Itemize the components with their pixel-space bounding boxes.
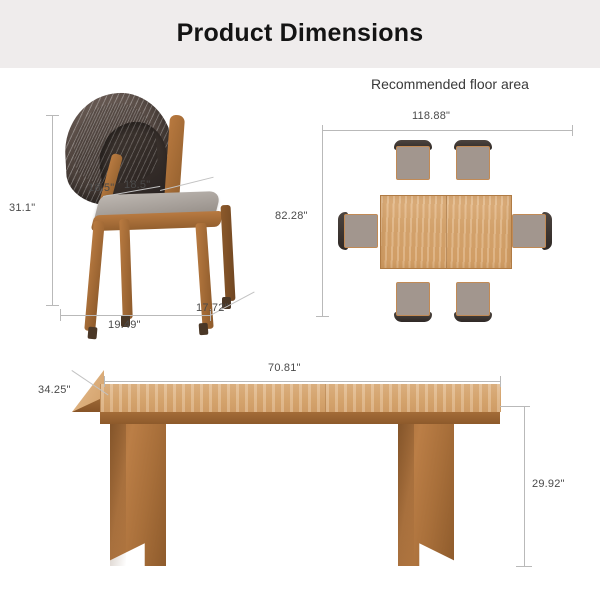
floorplan-chair-bottom-right: [456, 282, 490, 316]
page-title: Product Dimensions: [0, 19, 600, 48]
table-depth-label: 34.25": [38, 384, 71, 396]
chair-depth-label: 17.72": [196, 302, 229, 314]
chair-height-line: [52, 115, 53, 305]
chair-width-label: 19.49": [108, 319, 141, 331]
chair-width-line: [60, 315, 210, 316]
chair-leg-back-right: [220, 205, 235, 301]
chair-seat-right: [512, 214, 546, 248]
table-width-line: [104, 381, 500, 382]
chair-seat-top: [456, 146, 490, 180]
chair-seat-bottom: [396, 282, 430, 316]
table-width-tick-left: [104, 376, 105, 387]
table-diagram: 70.81" 34.25" 29.92": [0, 348, 600, 600]
table-top-surface: [100, 384, 501, 412]
chair-diagram: 31.1" 19.49" 17.72" 18.5" 18.5": [0, 68, 300, 348]
table-height-line: [524, 406, 525, 566]
table-top-edge: [100, 412, 500, 424]
floor-width-line: [322, 130, 572, 131]
floor-depth-label: 82.28": [275, 210, 308, 222]
floor-width-label: 118.88": [412, 110, 450, 122]
floorplan-chair-right: [512, 214, 546, 248]
floor-area-title: Recommended floor area: [300, 76, 600, 92]
table-height-label: 29.92": [532, 478, 565, 490]
floorplan-chair-left: [344, 214, 378, 248]
chair-seat-width-label: 18.5": [88, 182, 114, 194]
floorplan-chair-top-left: [396, 146, 430, 180]
header-band: Product Dimensions: [0, 0, 600, 68]
table-leg-left-shadow: [110, 424, 126, 566]
chair-foot-front-right: [199, 323, 209, 336]
product-dimensions-page: Product Dimensions 31.1": [0, 0, 600, 600]
floor-depth-line: [322, 130, 323, 316]
table-width-tick-right: [500, 376, 501, 387]
floor-area-diagram: Recommended floor area 118.88" 82.28": [300, 68, 600, 348]
chair-seat-bottom: [456, 282, 490, 316]
chair-illustration: [55, 93, 245, 323]
chair-seat-top: [396, 146, 430, 180]
floorplan-table: [380, 195, 512, 269]
chair-width-tick-left: [60, 309, 61, 321]
floor-width-tick-right: [572, 125, 573, 136]
table-height-tick-top: [500, 406, 530, 407]
table-leg-right-shadow: [398, 424, 414, 566]
chair-seat-left: [344, 214, 378, 248]
table-height-tick-bottom: [516, 566, 532, 567]
floor-depth-tick-bottom: [316, 316, 329, 317]
chair-seat-depth-label: 18.5": [124, 179, 150, 191]
chair-height-tick-top: [46, 115, 59, 116]
floorplan-chair-top-right: [456, 146, 490, 180]
chair-foot-front-left: [87, 327, 97, 340]
chair-height-label: 31.1": [9, 202, 35, 214]
chair-woven-backrest: [62, 90, 176, 207]
chair-height-tick-bottom: [46, 305, 59, 306]
chair-leg-back-left: [119, 219, 132, 319]
floorplan-chair-bottom-left: [396, 282, 430, 316]
table-width-label: 70.81": [268, 362, 301, 374]
